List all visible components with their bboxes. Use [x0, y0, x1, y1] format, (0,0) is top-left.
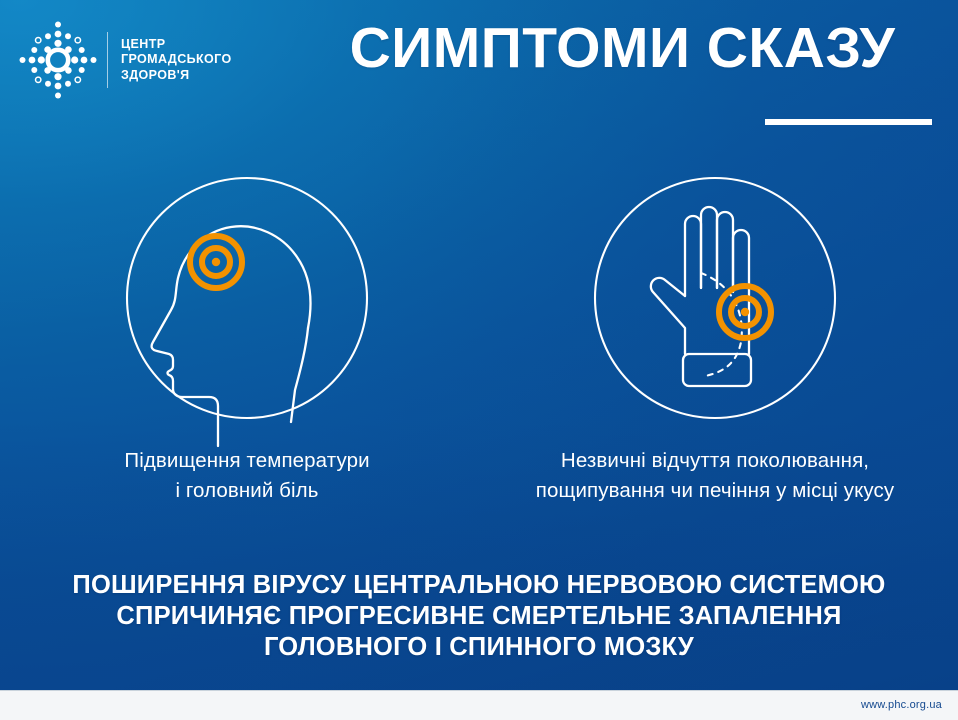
symptom-panel-fever-headache: Підвищення температури і головний біль [32, 176, 462, 506]
symptom-caption-tingling-bite-site: Незвичні відчуття поколювання, пощипуван… [500, 446, 930, 506]
organization-name: ЦЕНТР ГРОМАДСЬКОГО ЗДОРОВ'Я [121, 37, 232, 84]
symptom-caption-fever-headache: Підвищення температури і головний біль [32, 446, 462, 506]
statement-line-3: ГОЛОВНОГО І СПИННОГО МОЗКУ [0, 632, 958, 663]
organization-name-line-2: ГРОМАДСЬКОГО [121, 52, 232, 68]
caption-line-1: Незвичні відчуття поколювання, [500, 446, 930, 476]
caption-line-2: пощипування чи печіння у місці укусу [500, 476, 930, 506]
caption-line-1: Підвищення температури [32, 446, 462, 476]
organization-name-line-3: ЗДОРОВ'Я [121, 68, 232, 84]
caption-line-2: і головний біль [32, 476, 462, 506]
target-marker [719, 286, 771, 338]
key-message-statement: ПОШИРЕННЯ ВІРУСУ ЦЕНТРАЛЬНОЮ НЕРВОВОЮ СИ… [0, 570, 958, 663]
hand-with-target-icon [593, 176, 837, 420]
page-title: СИМПТОМИ СКАЗУ [300, 14, 945, 82]
symptom-panel-tingling-bite-site: Незвичні відчуття поколювання, пощипуван… [500, 176, 930, 506]
head-profile-with-target-icon [125, 176, 369, 420]
website-url[interactable]: www.phc.org.ua [861, 699, 942, 711]
phc-dot-diamond-logo-icon [18, 20, 98, 100]
logo-divider [107, 32, 108, 88]
statement-line-2: СПРИЧИНЯЄ ПРОГРЕСИВНЕ СМЕРТЕЛЬНЕ ЗАПАЛЕН… [0, 601, 958, 632]
organization-name-line-1: ЦЕНТР [121, 37, 232, 53]
organization-logo: ЦЕНТР ГРОМАДСЬКОГО ЗДОРОВ'Я [18, 18, 232, 102]
infographic-poster: ЦЕНТР ГРОМАДСЬКОГО ЗДОРОВ'Я СИМПТОМИ СКА… [0, 0, 958, 720]
statement-line-1: ПОШИРЕННЯ ВІРУСУ ЦЕНТРАЛЬНОЮ НЕРВОВОЮ СИ… [0, 570, 958, 601]
footer-bar: www.phc.org.ua [0, 690, 958, 720]
title-underline-rule [765, 119, 932, 125]
target-marker [190, 236, 242, 288]
